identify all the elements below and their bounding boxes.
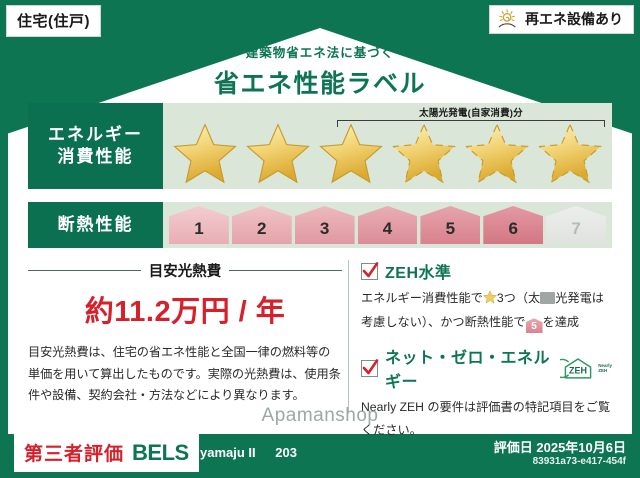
checkmark-icon xyxy=(361,263,378,280)
insulation-grade-badge: 4 xyxy=(358,206,418,244)
insulation-performance-row: 断熱性能 1 2 3 4 5 6 7 xyxy=(28,202,612,248)
house-type-tag: 住宅(住戸) xyxy=(6,5,101,37)
mini-grade-badge: 5 xyxy=(526,318,543,333)
zeh-standard-heading: ZEH水準 xyxy=(361,259,612,283)
energy-label-line2: 消費性能 xyxy=(58,146,134,168)
evaluation-id: 83931a73-e417-454f xyxy=(533,456,626,467)
energy-performance-row: エネルギー 消費性能 太陽光発電(自家消費)分 xyxy=(28,103,612,189)
bels-jp-label: 第三者評価 xyxy=(24,439,124,466)
renewable-equipment-tag: 再エネ設備あり xyxy=(489,5,634,34)
star-icon-solar xyxy=(537,122,603,185)
utility-cost-heading: 目安光熱費 xyxy=(28,260,342,281)
insulation-grade-badge: 2 xyxy=(232,206,292,244)
zeh-body-part-a: エネルギー消費性能で xyxy=(361,291,483,305)
utility-cost-note: 目安光熱費は、住宅の省エネ性能と全国一律の燃料等の単価を用いて算出したものです。… xyxy=(28,342,342,407)
svg-text:ZEH: ZEH xyxy=(569,366,587,376)
renewable-tag-label: 再エネ設備あり xyxy=(525,9,623,29)
zeh-body-part-b: 3つ（太 xyxy=(497,291,540,305)
zeh-section: ZEH水準 エネルギー消費性能で3つ（太光発電は考慮しない）、かつ断熱性能で5を… xyxy=(359,258,612,422)
watermark: Apamanshop xyxy=(0,405,640,427)
bels-en-label: BELS xyxy=(132,440,189,466)
mini-star-icon xyxy=(483,289,497,311)
solar-bracket xyxy=(337,120,605,127)
building-identifier: yamaju II 203 xyxy=(200,445,297,460)
utility-cost-heading-label: 目安光熱費 xyxy=(149,260,222,281)
insulation-grade-badge: 6 xyxy=(483,206,543,244)
footer: 第三者評価 BELS yamaju II 203 評価日 2025年10月6日 … xyxy=(0,432,640,478)
net-zero-title: ネット・ゼロ・エネルギー xyxy=(385,344,553,392)
solar-generation-annotation: 太陽光発電(自家消費)分 xyxy=(337,105,605,127)
utility-cost-value: 約11.2万円 / 年 xyxy=(28,288,342,330)
zeh-logo: ZEH Nearly ZEH xyxy=(560,356,612,380)
rule-right xyxy=(229,270,342,272)
solar-annotation-label: 太陽光発電(自家消費)分 xyxy=(337,105,605,119)
bels-energy-label: 住宅(住戸) 再エネ設備あり 建築物省エネ法に基づく 省エネ性 xyxy=(0,0,640,478)
energy-performance-label: エネルギー 消費性能 xyxy=(28,103,163,189)
net-zero-heading: ネット・ゼロ・エネルギー ZEH Nearly ZEH xyxy=(361,344,612,392)
rule-left xyxy=(28,270,141,272)
zeh-logo-caption: Nearly ZEH xyxy=(598,363,612,373)
utility-cost-section: 目安光熱費 約11.2万円 / 年 目安光熱費は、住宅の省エネ性能と全国一律の燃… xyxy=(28,258,348,422)
zeh-body-part-d: を達成 xyxy=(543,315,580,329)
insulation-grade-badge: 5 xyxy=(420,206,480,244)
building-name: yamaju II xyxy=(200,445,256,460)
insulation-grade-badge-inactive: 7 xyxy=(546,206,606,244)
zeh-standard-title: ZEH水準 xyxy=(385,259,452,283)
star-icon xyxy=(172,122,238,185)
star-icon xyxy=(318,122,384,185)
star-icon xyxy=(245,122,311,185)
redacted-text-block xyxy=(540,292,555,304)
insulation-grade-badge: 3 xyxy=(295,206,355,244)
star-icon-solar xyxy=(464,122,530,185)
zeh-logo-caption-line2: ZEH xyxy=(598,368,607,373)
insulation-grade-badge: 1 xyxy=(169,206,229,244)
title-block: 建築物省エネ法に基づく 省エネ性能ラベル xyxy=(0,42,640,100)
checkmark-icon xyxy=(361,360,378,377)
energy-star-rating: 太陽光発電(自家消費)分 xyxy=(163,103,612,189)
insulation-grade-scale: 1 2 3 4 5 6 7 xyxy=(163,202,612,248)
sun-icon xyxy=(497,9,519,29)
insulation-label-text: 断熱性能 xyxy=(58,214,134,236)
evaluation-date-value: 2025年10月6日 xyxy=(536,440,626,455)
zeh-standard-body: エネルギー消費性能で3つ（太光発電は考慮しない）、かつ断熱性能で5を達成 xyxy=(361,287,612,333)
evaluation-date-label: 評価日 xyxy=(494,440,533,455)
page-title: 省エネ性能ラベル xyxy=(0,64,640,100)
evaluation-date: 評価日 2025年10月6日 xyxy=(494,437,626,456)
bels-certification-badge: 第三者評価 BELS xyxy=(14,434,199,472)
star-icon-solar xyxy=(391,122,457,185)
insulation-performance-label: 断熱性能 xyxy=(28,202,163,248)
unit-number: 203 xyxy=(275,445,297,460)
section-divider xyxy=(348,260,349,412)
title-subtitle: 建築物省エネ法に基づく xyxy=(0,42,640,61)
energy-label-line1: エネルギー xyxy=(48,124,143,146)
lower-section: 目安光熱費 約11.2万円 / 年 目安光熱費は、住宅の省エネ性能と全国一律の燃… xyxy=(28,258,612,422)
